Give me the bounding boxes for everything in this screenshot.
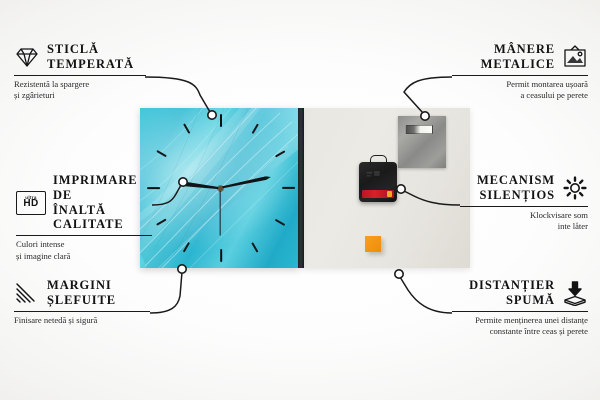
arrow-onto-pad-icon xyxy=(562,280,588,306)
clock-tick xyxy=(156,219,166,226)
callout-tempered-glass[interactable]: STICLĂ TEMPERATĂ Rezistentă la spargere … xyxy=(14,42,146,102)
clock-back-panel xyxy=(303,108,470,268)
callout-metal-handles[interactable]: MÂNERE METALICE Permit montarea ușoară a… xyxy=(452,42,588,102)
clock-second-hand xyxy=(219,188,220,236)
mechanism-battery xyxy=(362,190,394,198)
callout-rule xyxy=(452,75,588,76)
clock-tick xyxy=(183,124,190,134)
callout-rule xyxy=(452,311,588,312)
clock-tick xyxy=(252,242,259,252)
clock-tick xyxy=(183,242,190,252)
callout-rule xyxy=(14,311,150,312)
mechanism-detail-icon xyxy=(365,169,382,184)
callout-title: MARGINI ȘLEFUITE xyxy=(47,278,116,308)
clock-tick xyxy=(220,114,222,127)
gear-icon xyxy=(562,175,588,201)
clock-tick xyxy=(156,150,166,157)
infographic-canvas: STICLĂ TEMPERATĂ Rezistentă la spargere … xyxy=(0,0,600,400)
ultra-hd-icon: ultra HD xyxy=(16,191,46,215)
metal-hanger-bracket xyxy=(398,116,446,168)
callout-title: MECANISM SILENȚIOS xyxy=(477,173,555,203)
callout-subtitle: Culori intense și imagine clară xyxy=(16,239,152,262)
callout-subtitle: Rezistentă la spargere și zgârieturi xyxy=(14,79,146,102)
callout-subtitle: Permite menținerea unei distanțe constan… xyxy=(452,315,588,338)
callout-title: IMPRIMARE DE ÎNALTĂ CALITATE xyxy=(53,173,152,232)
clock-mechanism xyxy=(359,162,397,202)
clock-hour-hand xyxy=(180,181,220,190)
callout-title: DISTANȚIER SPUMĂ xyxy=(469,278,555,308)
callout-subtitle: Klockvisare som inte låter xyxy=(460,210,588,233)
diagonal-lines-icon xyxy=(14,280,40,306)
callout-subtitle: Finisare netedă și sigură xyxy=(14,315,150,327)
clock-tick xyxy=(282,187,295,189)
clock-center-pin xyxy=(218,186,223,191)
glass-thickness-edge xyxy=(298,108,304,268)
clock-dial xyxy=(140,108,300,268)
callout-polished-edges[interactable]: MARGINI ȘLEFUITE Finisare netedă și sigu… xyxy=(14,278,150,326)
ultra-hd-icon-main-text: HD xyxy=(23,199,38,209)
callout-subtitle: Permit montarea ușoară a ceasului pe per… xyxy=(452,79,588,102)
clock-tick xyxy=(220,249,222,262)
mechanism-hanging-loop xyxy=(370,155,387,165)
diamond-icon xyxy=(14,44,40,70)
printed-tempered-glass-clock-face xyxy=(140,108,300,268)
clock-tick xyxy=(275,219,285,226)
callout-title: STICLĂ TEMPERATĂ xyxy=(47,42,134,72)
clock-minute-hand xyxy=(220,175,272,189)
callout-high-quality-print[interactable]: ultra HD IMPRIMARE DE ÎNALTĂ CALITATE Cu… xyxy=(16,173,152,262)
hanger-keyhole-slot xyxy=(405,125,433,134)
callout-foam-spacer[interactable]: DISTANȚIER SPUMĂ Permite menținerea unei… xyxy=(452,278,588,338)
callout-rule xyxy=(14,75,146,76)
clock-tick xyxy=(252,124,259,134)
picture-frame-hanger-icon xyxy=(562,44,588,70)
clock-tick xyxy=(275,150,285,157)
callout-silent-mechanism[interactable]: MECANISM SILENȚIOS Klockvisare som inte … xyxy=(460,173,588,233)
callout-rule xyxy=(16,235,152,236)
product-illustration xyxy=(140,108,470,268)
callout-rule xyxy=(460,206,588,207)
callout-title: MÂNERE METALICE xyxy=(481,42,555,72)
foam-spacer-pad xyxy=(365,236,381,252)
